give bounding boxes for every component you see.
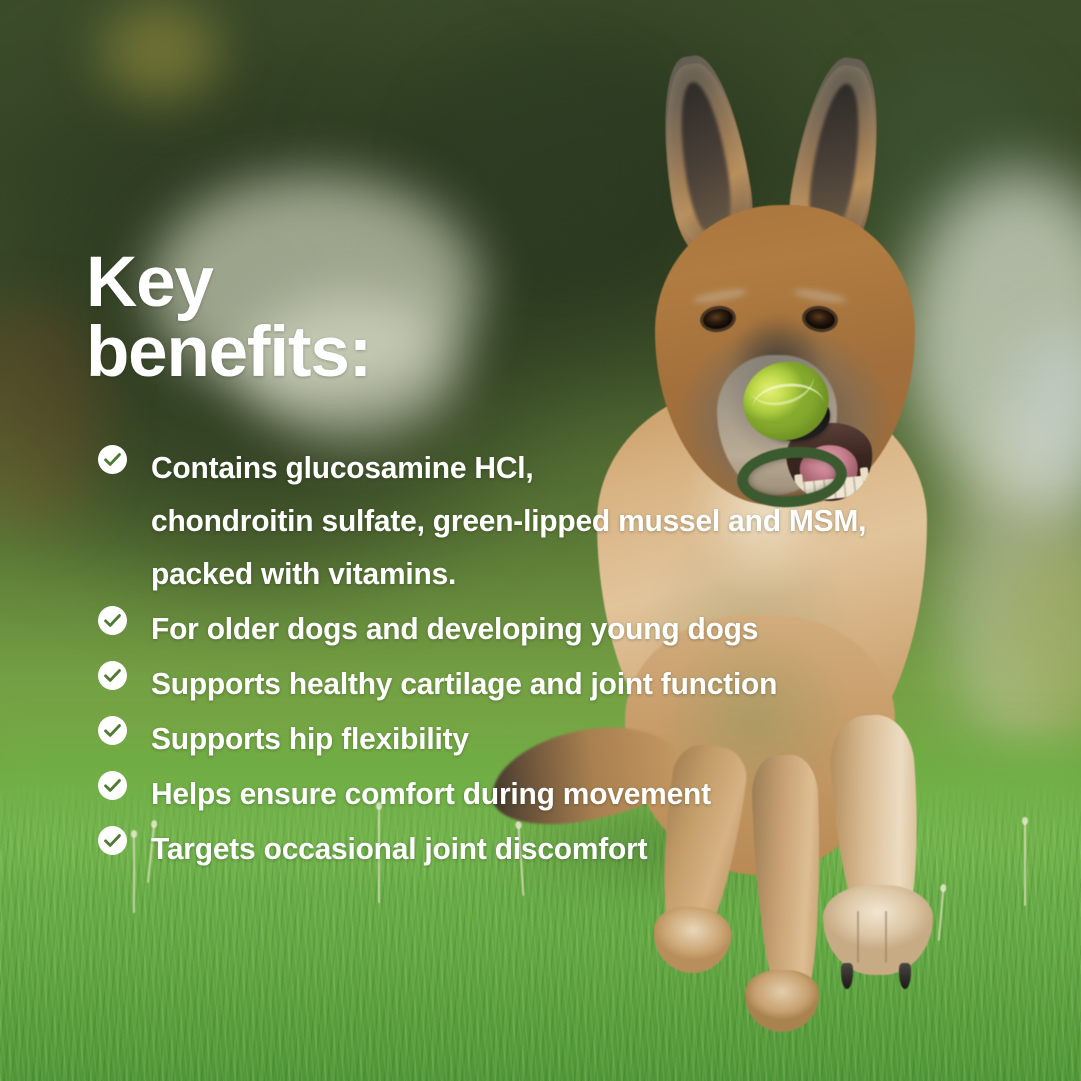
check-circle-icon <box>98 606 127 635</box>
list-item-label: For older dogs and developing young dogs <box>151 602 891 655</box>
benefit-item-4: Supports hip flexibility <box>98 712 918 765</box>
benefit-item-1: Contains glucosamine HCl, chondroitin su… <box>98 441 918 600</box>
benefit-item-5: Helps ensure comfort during movement <box>98 767 918 820</box>
list-item-label: Supports healthy cartilage and joint fun… <box>151 657 891 710</box>
check-circle-icon <box>98 716 127 745</box>
benefits-list: Contains glucosamine HCl, chondroitin su… <box>98 441 918 877</box>
list-item-label: Targets occasional joint discomfort <box>151 822 891 875</box>
check-circle-icon <box>98 661 127 690</box>
text-overlay: Key benefits: Contains glucosamine HCl, … <box>0 0 1081 1081</box>
list-item-label: Contains glucosamine HCl, chondroitin su… <box>151 441 891 600</box>
list-item-label: Helps ensure comfort during movement <box>151 767 891 820</box>
benefit-item-6: Targets occasional joint discomfort <box>98 822 918 875</box>
page-title: Key benefits: <box>86 248 371 388</box>
promo-image: Key benefits: Contains glucosamine HCl, … <box>0 0 1081 1081</box>
benefit-item-3: Supports healthy cartilage and joint fun… <box>98 657 918 710</box>
list-item-label: Supports hip flexibility <box>151 712 891 765</box>
check-circle-icon <box>98 445 127 474</box>
check-circle-icon <box>98 771 127 800</box>
benefit-item-2: For older dogs and developing young dogs <box>98 602 918 655</box>
check-circle-icon <box>98 826 127 855</box>
